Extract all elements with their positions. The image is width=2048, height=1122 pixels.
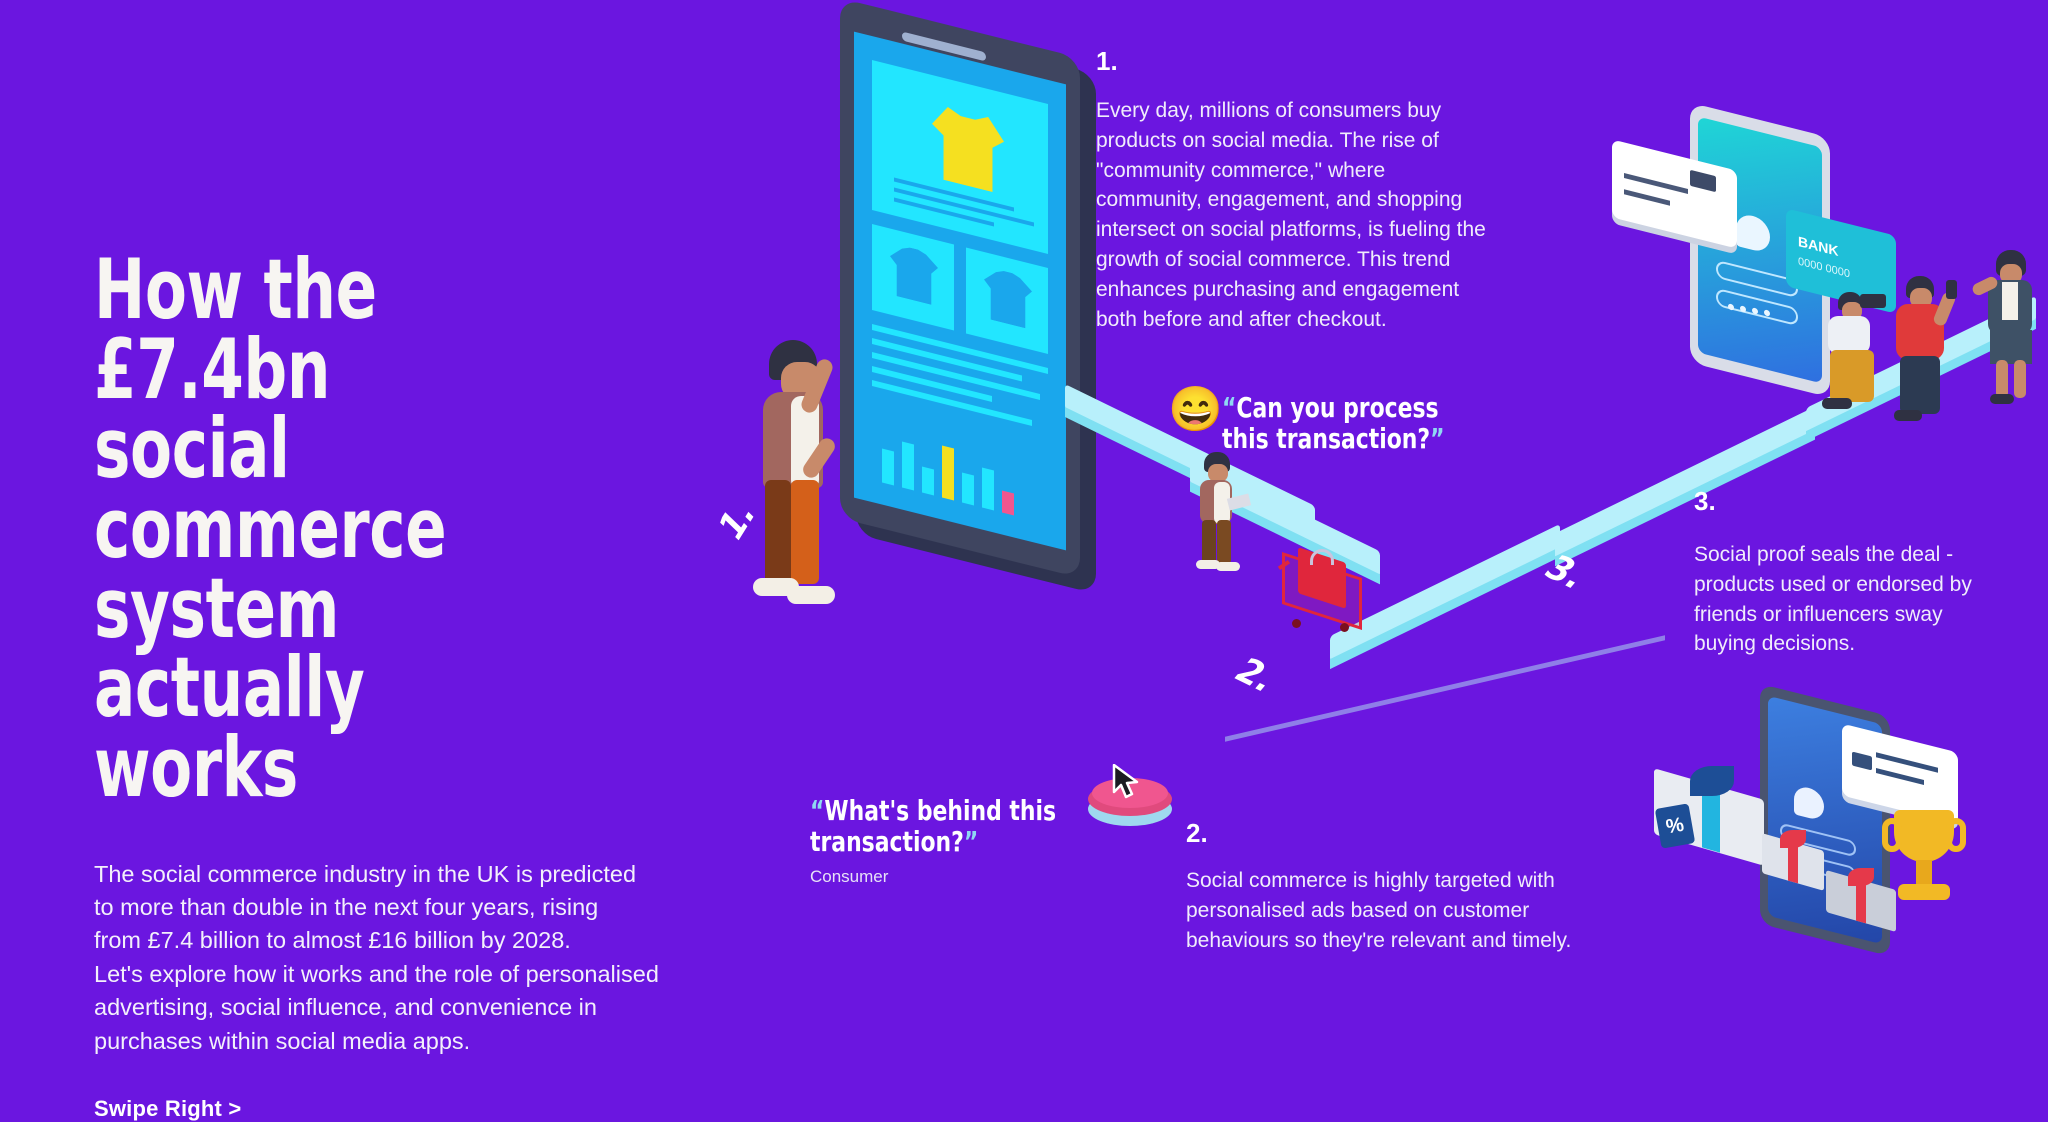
infographic-canvas: How the £7.4bn social commerce system ac… (0, 0, 2048, 1024)
shoe-front (1216, 562, 1240, 571)
influencer-trousers (1900, 356, 1940, 414)
step-2-block: 2. Social commerce is highly targeted wi… (1186, 820, 1656, 955)
trophy-icon (1878, 810, 1974, 930)
shoe (1894, 410, 1922, 421)
photographer-shirt (1828, 316, 1870, 354)
clickable-button-with-cursor[interactable] (1088, 778, 1172, 834)
leg (2014, 360, 2026, 398)
quote-cart-body: Can you process this transaction? (1222, 391, 1439, 455)
leg-front (1217, 520, 1231, 564)
step-3-number: 3. (1694, 488, 1716, 514)
shopping-cart-with-bags (1276, 545, 1372, 633)
bag-handle (1310, 549, 1334, 565)
swipe-right-cta[interactable]: Swipe Right > (94, 1096, 734, 1122)
quote-close-mark: ” (1430, 423, 1444, 454)
smartphone-icon (1946, 280, 1957, 299)
white-credit-card (1612, 155, 1737, 233)
cursor-icon (1112, 764, 1142, 800)
quote-consumer-text: “What's behind this transaction?” (810, 795, 1056, 858)
shoe (1990, 394, 2014, 404)
leg-front (791, 480, 819, 584)
path-marker-2: 2. (1226, 652, 1284, 700)
leg (1996, 360, 2008, 398)
consumer-on-belt (1190, 452, 1250, 572)
shoe (1822, 398, 1852, 409)
quote-cart-text: “Can you process this transaction?” (1222, 392, 1445, 455)
smiley-emoji: 😄 (1168, 388, 1223, 432)
bow (1690, 766, 1734, 796)
step-2-number: 2. (1186, 820, 1656, 846)
quote-close-mark: ” (964, 826, 978, 857)
camera-icon (1860, 294, 1886, 308)
blouse (2002, 282, 2018, 320)
step-1-number: 1. (1096, 48, 1566, 74)
product-card (872, 60, 1048, 254)
step-2-body: Social commerce is highly targeted with … (1186, 866, 1656, 955)
step-3-body: Social proof seals the deal - products u… (1694, 540, 2048, 659)
product-tile-2 (966, 247, 1048, 353)
gift-box-small (1762, 830, 1832, 886)
step-1-body: Every day, millions of consumers buy pro… (1096, 96, 1566, 335)
gift-box-large: % (1654, 762, 1774, 862)
cart-wheel (1292, 619, 1301, 628)
shoe-front (787, 586, 835, 604)
shopping-app-phone (840, 28, 1080, 548)
payment-card-popup (1842, 738, 1958, 810)
quote-cart: “Can you process this transaction?” (1222, 392, 1478, 455)
leg-back (765, 480, 791, 584)
product-tile-1 (872, 224, 954, 330)
quote-open-mark: “ (810, 795, 824, 826)
influencer-group-photographing (1820, 250, 2048, 440)
leg-back (1202, 520, 1216, 564)
step-3-block: 3. Social proof seals the deal - product… (1694, 540, 2048, 659)
page-title: How the £7.4bn social commerce system ac… (94, 250, 619, 808)
quote-open-mark: “ (1222, 392, 1236, 423)
cart-wheel (1340, 623, 1349, 632)
intro-paragraph: The social commerce industry in the UK i… (94, 858, 694, 1058)
skirt (1990, 330, 2032, 364)
phone-screen (854, 32, 1066, 551)
quote-attribution: Consumer (810, 867, 1093, 887)
consumer-browsing (735, 340, 865, 610)
step-1-block: 1. Every day, millions of consumers buy … (1096, 48, 1566, 335)
left-text-column: How the £7.4bn social commerce system ac… (94, 250, 734, 1122)
photographer-trousers (1830, 350, 1874, 402)
sweater-icon (932, 103, 1004, 195)
discount-tag: % (1655, 803, 1695, 848)
quote-consumer-body: What's behind this transaction? (810, 794, 1056, 858)
quote-consumer: “What's behind this transaction?” Consum… (810, 795, 1093, 887)
